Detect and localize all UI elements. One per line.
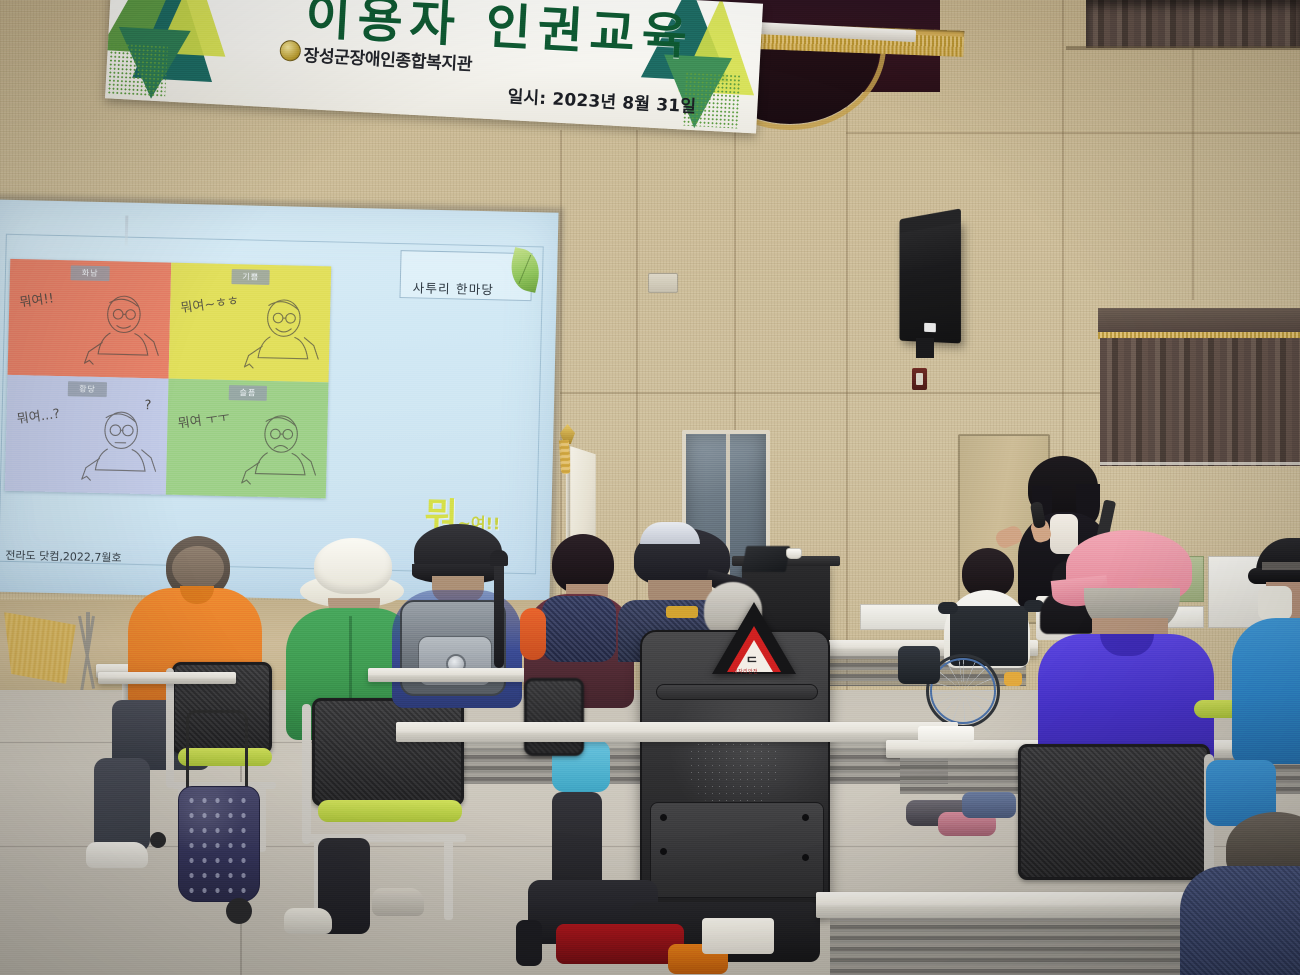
umbrella-handle: [490, 550, 508, 566]
tripod-leg: [86, 612, 90, 648]
desk: [396, 722, 958, 742]
trolley-caster: [226, 898, 252, 924]
emotion-panel: 황당 뭐여...? ?: [5, 375, 168, 495]
panel-utterance: 뭐여 ㅜㅜ: [176, 406, 230, 432]
wall-speaker-icon: [900, 221, 961, 344]
green-leaf-icon: [506, 247, 544, 293]
vest-orange-sleeve: [520, 608, 546, 660]
panel-tag: 기쁨: [231, 269, 270, 285]
organization-seal-icon: [279, 40, 301, 62]
slide-credit: 전라도 닷컴,2022,7월호: [5, 547, 122, 566]
chair-frame: [166, 668, 174, 788]
panel-utterance: 뭐여...?: [16, 403, 61, 428]
panel-utterance: 뭐여~ㅎㅎ: [179, 290, 240, 317]
sandal: [962, 792, 1016, 818]
navy-vest: [542, 596, 616, 662]
fedora-band: [1262, 562, 1300, 570]
emotion-panel: 화남 뭐여!!: [8, 259, 171, 379]
panel-tag: 슬픔: [228, 385, 267, 401]
wheelchair-armrest: [938, 602, 958, 614]
face-mask-icon: [1258, 586, 1292, 620]
seat-rivet: [660, 848, 667, 855]
seat-lower-panel: [650, 802, 824, 898]
curtain-rail: [1066, 46, 1300, 50]
paper-cup: [786, 548, 802, 559]
speaker-mount-bracket: [916, 338, 934, 358]
speaker-logo: [924, 323, 936, 332]
chair-leg: [444, 840, 453, 920]
chair-caster: [150, 832, 166, 848]
slide-title: 사투리 한마당: [413, 277, 495, 298]
wheelchair-accessory: [1004, 672, 1022, 686]
curtain-bottom-edge: [1100, 462, 1300, 465]
person-sketch-icon: [73, 404, 161, 490]
desk: [98, 672, 236, 684]
scooter-body-red: [556, 924, 684, 964]
audience-black-hat-man: [1248, 538, 1300, 758]
audience-scalp: [172, 546, 224, 590]
cap-panel-white: [640, 522, 700, 544]
audience-top: [1232, 618, 1300, 764]
wall-seam: [734, 130, 736, 430]
upper-curtain: [1086, 0, 1300, 48]
audience-pink-cap-man: [1038, 530, 1214, 780]
wall-vent: [648, 273, 678, 293]
question-mark: ?: [144, 398, 151, 413]
slide-title-box: 사투리 한마당: [399, 250, 532, 301]
person-sketch-icon: [234, 408, 322, 494]
trolley-pattern: [185, 793, 253, 895]
scooter-plate: [702, 918, 774, 954]
trolley-bag: [178, 786, 260, 902]
chair-backrest: [312, 698, 464, 806]
audience-shoe: [284, 908, 332, 934]
wheelchair-bag: [898, 646, 940, 684]
seat-rivet: [802, 854, 809, 861]
wall-seam: [846, 132, 1300, 134]
side-curtain: [1100, 338, 1300, 466]
chair-frame: [302, 704, 311, 844]
banner-decoration-left: [105, 0, 254, 106]
panel-tag: 황당: [68, 381, 107, 397]
emotion-panel-grid: 화남 뭐여!! 기쁨 뭐여~ㅎㅎ: [5, 259, 331, 498]
warning-caption: 제자리안전: [733, 668, 758, 675]
audience-shoe: [372, 888, 424, 916]
white-cloth: [918, 726, 974, 742]
audience-top: [1180, 866, 1300, 975]
audience-shoe: [86, 842, 148, 868]
lecture-hall-photograph: 이용자 인권교육 장성군장애인종합복지관 일시: 2023년 8월 31일 화남…: [0, 0, 1300, 975]
wall-seam: [1062, 0, 1064, 470]
person-sketch-icon: [76, 288, 164, 374]
seat-rivet: [660, 814, 667, 821]
emotion-panel: 기쁨 뭐여~ㅎㅎ: [168, 263, 331, 383]
fire-alarm-plate: [912, 368, 927, 390]
slide-hanger-icon: [125, 216, 129, 246]
white-bucket-hat: [314, 538, 392, 594]
scooter-wheel: [516, 920, 542, 966]
lanyard: [666, 606, 698, 618]
audience-leg: [94, 758, 150, 852]
panel-utterance: 뭐여!!: [18, 287, 55, 310]
audience-navy-sweater-man: [1180, 812, 1300, 975]
umbrella: [494, 560, 504, 668]
seat-grab-handle: [656, 684, 818, 700]
seat-rivet: [802, 814, 809, 821]
panel-tag: 화남: [71, 265, 110, 281]
chair-seat: [318, 800, 462, 822]
chair-backrest: [524, 678, 584, 756]
trolley-handle: [186, 710, 248, 796]
curtain-pelmet: [1098, 308, 1300, 334]
laptop: [742, 546, 791, 572]
emotion-panel: 슬픔 뭐여 ㅜㅜ: [165, 379, 328, 499]
person-sketch-icon: [237, 292, 325, 378]
